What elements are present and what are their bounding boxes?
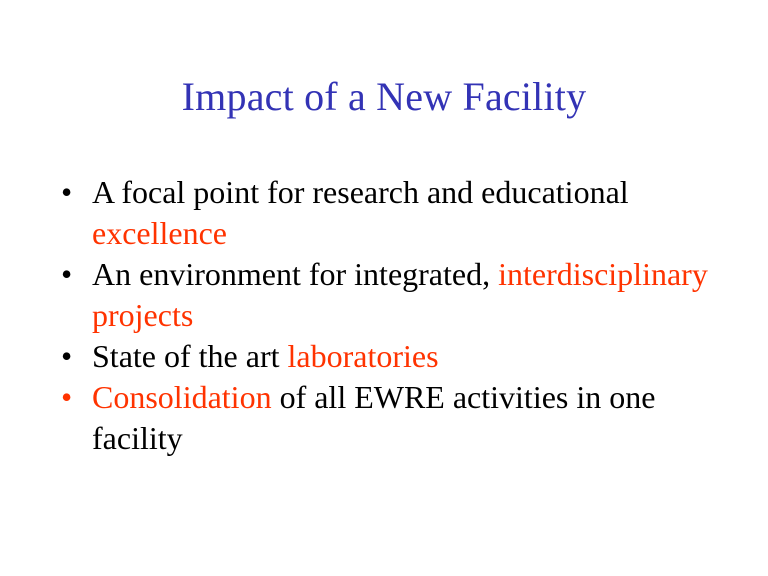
- bullet-item: •State of the art laboratories: [55, 336, 715, 377]
- presentation-slide: Impact of a New Facility •A focal point …: [0, 0, 768, 576]
- bullet-marker-icon: •: [61, 336, 81, 377]
- bullet-text: State of the art laboratories: [92, 338, 439, 374]
- bullet-item: •A focal point for research and educatio…: [55, 172, 715, 254]
- bullet-list: •A focal point for research and educatio…: [55, 172, 715, 459]
- bullet-item: •Consolidation of all EWRE activities in…: [55, 377, 715, 459]
- bullet-text: Consolidation of all EWRE activities in …: [92, 379, 655, 456]
- bullet-marker-icon: •: [61, 172, 81, 213]
- bullet-text-run: A focal point for research and education…: [92, 174, 629, 210]
- bullet-text-run: State of the art: [92, 338, 287, 374]
- bullet-marker-icon: •: [61, 377, 81, 418]
- bullet-text-run: Consolidation: [92, 379, 272, 415]
- bullet-item: •An environment for integrated, interdis…: [55, 254, 715, 336]
- bullet-marker-icon: •: [61, 254, 81, 295]
- bullet-text: A focal point for research and education…: [92, 174, 629, 251]
- bullet-text-run: excellence: [92, 215, 227, 251]
- bullet-text-run: laboratories: [287, 338, 438, 374]
- bullet-text-run: An environment for integrated,: [92, 256, 498, 292]
- bullet-text: An environment for integrated, interdisc…: [92, 256, 708, 333]
- page-title: Impact of a New Facility: [0, 74, 768, 120]
